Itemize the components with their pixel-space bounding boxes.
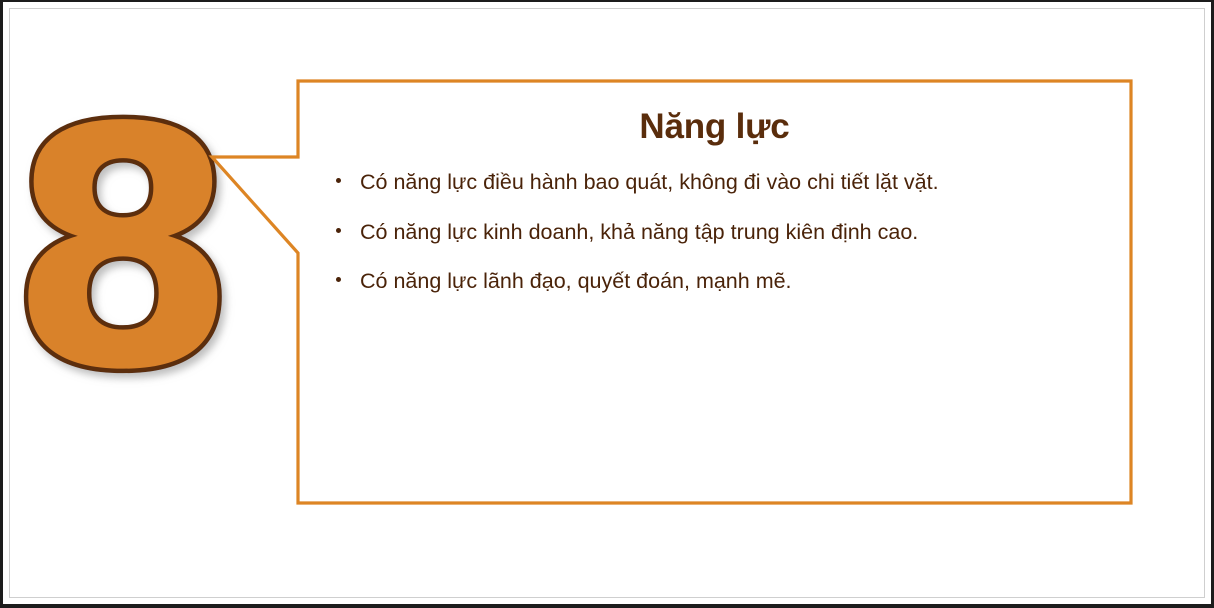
number-eight-icon: 8: [18, 78, 228, 388]
bullet-dot-icon: [336, 178, 341, 183]
number-eight-glyph: 8: [8, 58, 238, 442]
callout-box: Năng lực Có năng lực điều hành bao quát,…: [205, 74, 1145, 514]
callout-content: Năng lực Có năng lực điều hành bao quát,…: [298, 81, 1131, 503]
list-item-text: Có năng lực kinh doanh, khả năng tập tru…: [360, 220, 918, 244]
list-item: Có năng lực điều hành bao quát, không đi…: [332, 167, 1097, 198]
list-item-text: Có năng lực điều hành bao quát, không đi…: [360, 170, 939, 194]
callout-bullet-list: Có năng lực điều hành bao quát, không đi…: [332, 167, 1097, 297]
list-item: Có năng lực lãnh đạo, quyết đoán, mạnh m…: [332, 266, 1097, 297]
list-item: Có năng lực kinh doanh, khả năng tập tru…: [332, 217, 1097, 248]
bullet-dot-icon: [336, 228, 341, 233]
bullet-dot-icon: [336, 277, 341, 282]
list-item-text: Có năng lực lãnh đạo, quyết đoán, mạnh m…: [360, 269, 792, 293]
callout-title: Năng lực: [332, 99, 1097, 147]
slide-number-badge: 8: [18, 78, 228, 388]
slide-page: 8 Năng lực Có năng lực điều hành bao quá…: [0, 0, 1214, 608]
